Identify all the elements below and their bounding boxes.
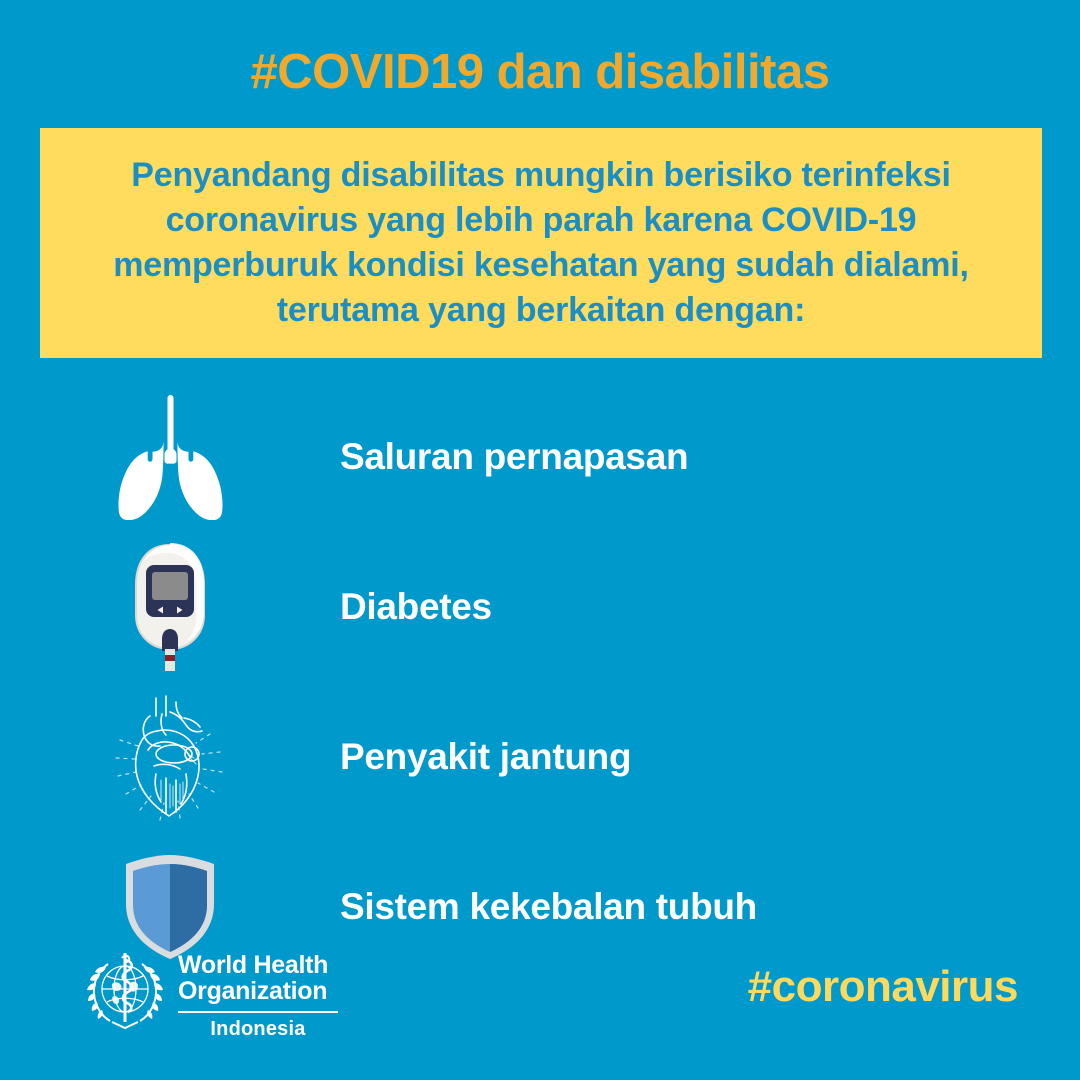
condition-label: Sistem kekebalan tubuh [340, 886, 757, 928]
condition-label: Saluran pernapasan [340, 436, 688, 478]
anatomical-heart-icon [0, 682, 340, 832]
list-item: Diabetes [0, 532, 1080, 682]
hashtag-label: #coronavirus [748, 962, 1018, 1012]
condition-label: Penyakit jantung [340, 736, 631, 778]
callout-text: Penyandang disabilitas mungkin berisiko … [51, 153, 1031, 333]
conditions-list: Saluran pernapasan [0, 382, 1080, 982]
who-country-label: Indonesia [178, 1018, 338, 1041]
glucometer-icon [0, 532, 340, 682]
who-emblem-icon [82, 948, 168, 1034]
who-divider [178, 1011, 338, 1013]
poster-canvas: #COVID19 dan disabilitas Penyandang disa… [0, 0, 1080, 1080]
who-logo: World Health Organization Indonesia [82, 948, 342, 1044]
page-title: #COVID19 dan disabilitas [0, 42, 1080, 102]
who-wordmark: World Health Organization Indonesia [178, 948, 338, 1041]
who-line-1: World Health [178, 952, 338, 978]
list-item: Saluran pernapasan [0, 382, 1080, 532]
callout-box: Penyandang disabilitas mungkin berisiko … [40, 128, 1042, 358]
lungs-icon [0, 382, 340, 532]
list-item: Penyakit jantung [0, 682, 1080, 832]
who-line-2: Organization [178, 978, 338, 1004]
condition-label: Diabetes [340, 586, 492, 628]
